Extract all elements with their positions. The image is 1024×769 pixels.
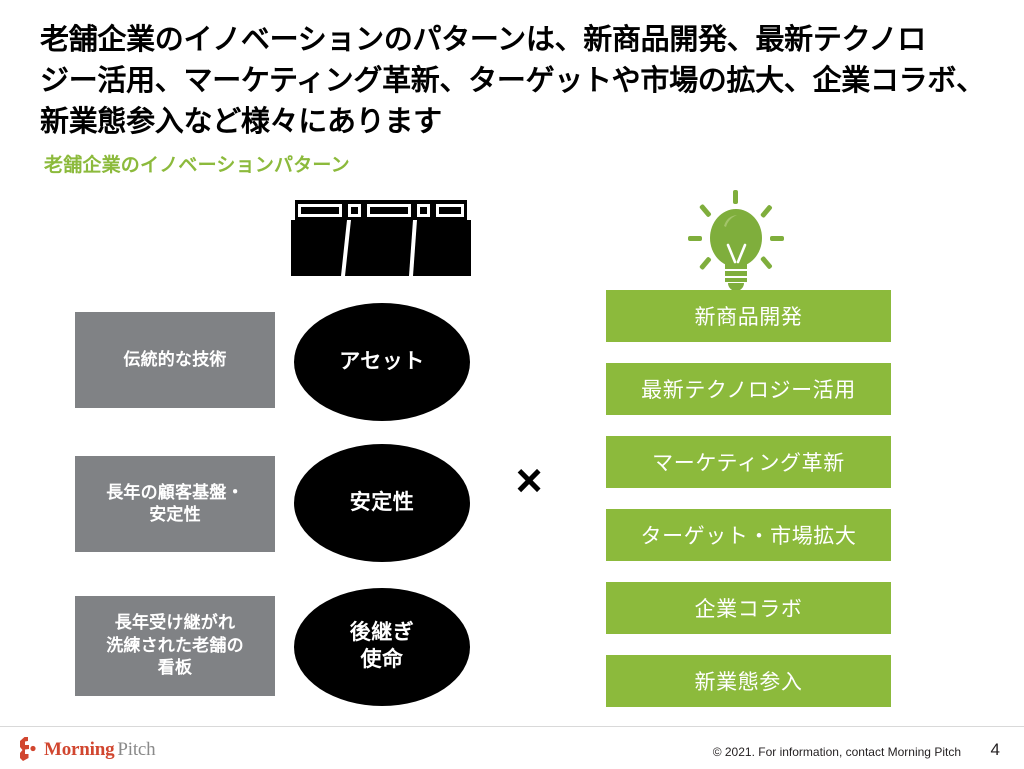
asset-category-ellipse: アセット [294, 303, 470, 421]
morning-pitch-mark-icon [16, 737, 37, 761]
slide-canvas: 老舗企業のイノベーションのパターンは、新商品開発、最新テクノロ ジー活用、マーケ… [0, 0, 1024, 769]
innovation-item: 企業コラボ [606, 582, 891, 634]
page-title-line-2: ジー活用、マーケティング革新、ターゲットや市場の拡大、企業コラボ、 [40, 61, 990, 102]
noren-curtain-icon [291, 200, 471, 276]
innovation-item-label: マーケティング革新 [652, 447, 845, 477]
asset-category-label: アセット [339, 349, 425, 376]
innovation-item: 最新テクノロジー活用 [606, 363, 891, 415]
asset-attribute-label: 長年の顧客基盤・安定性 [106, 482, 244, 527]
multiplication-symbol: × [505, 452, 553, 508]
logo-primary-text: Morning [44, 739, 114, 760]
page-title-line-1: 老舗企業のイノベーションのパターンは、新商品開発、最新テクノロ [40, 20, 990, 61]
asset-attribute-label: 長年受け継がれ洗練された老舗の看板 [106, 612, 244, 679]
asset-category-label: 安定性 [350, 490, 415, 517]
page-title-line-3: 新業態参入など様々にあります [40, 102, 990, 143]
page-title: 老舗企業のイノベーションのパターンは、新商品開発、最新テクノロ ジー活用、マーケ… [40, 20, 990, 144]
innovation-item-label: 新商品開発 [695, 301, 803, 331]
innovation-item: マーケティング革新 [606, 436, 891, 488]
innovation-item-label: 新業態参入 [695, 666, 803, 696]
morning-pitch-logo: MorningPitch [16, 736, 155, 762]
logo-secondary-text: Pitch [114, 739, 155, 760]
asset-attribute-box: 長年受け継がれ洗練された老舗の看板 [75, 596, 275, 696]
innovation-item: 新業態参入 [606, 655, 891, 707]
asset-attribute-box: 長年の顧客基盤・安定性 [75, 456, 275, 552]
asset-category-label: 後継ぎ使命 [350, 620, 415, 674]
innovation-item: 新商品開発 [606, 290, 891, 342]
innovation-item: ターゲット・市場拡大 [606, 509, 891, 561]
lightbulb-icon [688, 190, 784, 290]
asset-attribute-label: 伝統的な技術 [123, 349, 226, 371]
innovation-item-label: 企業コラボ [695, 593, 803, 623]
section-subtitle: 老舗企業のイノベーションパターン [44, 150, 350, 177]
footer-divider [0, 726, 1024, 727]
asset-category-ellipse: 後継ぎ使命 [294, 588, 470, 706]
asset-category-ellipse: 安定性 [294, 444, 470, 562]
asset-attribute-box: 伝統的な技術 [75, 312, 275, 408]
copyright-text: © 2021. For information, contact Morning… [713, 745, 961, 759]
page-number: 4 [991, 740, 1000, 760]
innovation-item-label: 最新テクノロジー活用 [641, 374, 856, 404]
innovation-item-label: ターゲット・市場拡大 [641, 520, 857, 550]
